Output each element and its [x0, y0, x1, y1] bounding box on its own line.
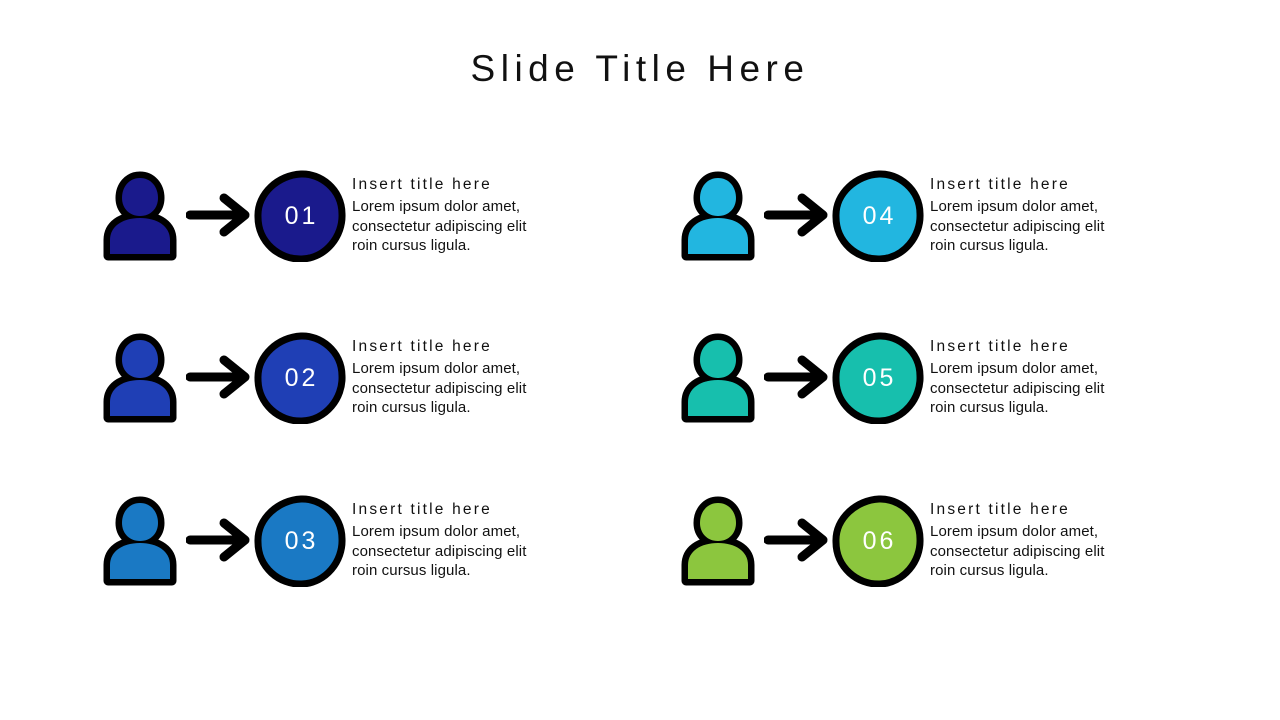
item-title: Insert title here — [930, 336, 1230, 358]
arrow-right-icon — [764, 352, 834, 402]
item-title: Insert title here — [352, 336, 652, 358]
item-body: Lorem ipsum dolor amet, consectetur adip… — [930, 522, 1126, 581]
infographic-item-04[interactable]: 04 Insert title here Lorem ipsum dolor a… — [674, 160, 1234, 270]
item-body: Lorem ipsum dolor amet, consectetur adip… — [930, 197, 1126, 256]
arrow-right-icon — [764, 515, 834, 565]
number-badge: 01 — [254, 170, 346, 262]
item-body: Lorem ipsum dolor amet, consectetur adip… — [352, 197, 548, 256]
person-icon — [96, 493, 184, 589]
person-icon — [674, 493, 762, 589]
number-label: 01 — [254, 170, 346, 262]
person-icon — [674, 168, 762, 264]
number-badge: 02 — [254, 332, 346, 424]
arrow-right-icon — [186, 190, 256, 240]
item-title: Insert title here — [930, 499, 1230, 521]
item-text-block: Insert title here Lorem ipsum dolor amet… — [930, 336, 1230, 418]
item-text-block: Insert title here Lorem ipsum dolor amet… — [930, 174, 1230, 256]
number-label: 02 — [254, 332, 346, 424]
item-text-block: Insert title here Lorem ipsum dolor amet… — [352, 174, 652, 256]
slide-canvas: Slide Title Here — [0, 0, 1280, 720]
number-label: 03 — [254, 495, 346, 587]
item-text-block: Insert title here Lorem ipsum dolor amet… — [930, 499, 1230, 581]
item-body: Lorem ipsum dolor amet, consectetur adip… — [352, 522, 548, 581]
arrow-right-icon — [186, 515, 256, 565]
person-icon — [96, 168, 184, 264]
number-label: 05 — [832, 332, 924, 424]
number-label: 06 — [832, 495, 924, 587]
number-badge: 04 — [832, 170, 924, 262]
arrow-right-icon — [186, 352, 256, 402]
person-icon — [674, 330, 762, 426]
number-badge: 06 — [832, 495, 924, 587]
item-title: Insert title here — [352, 174, 652, 196]
infographic-item-02[interactable]: 02 Insert title here Lorem ipsum dolor a… — [96, 322, 656, 432]
number-label: 04 — [832, 170, 924, 262]
item-body: Lorem ipsum dolor amet, consectetur adip… — [352, 359, 548, 418]
item-text-block: Insert title here Lorem ipsum dolor amet… — [352, 336, 652, 418]
number-badge: 03 — [254, 495, 346, 587]
arrow-right-icon — [764, 190, 834, 240]
infographic-item-05[interactable]: 05 Insert title here Lorem ipsum dolor a… — [674, 322, 1234, 432]
infographic-item-06[interactable]: 06 Insert title here Lorem ipsum dolor a… — [674, 485, 1234, 595]
person-icon — [96, 330, 184, 426]
number-badge: 05 — [832, 332, 924, 424]
item-title: Insert title here — [352, 499, 652, 521]
item-text-block: Insert title here Lorem ipsum dolor amet… — [352, 499, 652, 581]
page-title: Slide Title Here — [0, 45, 1280, 93]
infographic-item-01[interactable]: 01 Insert title here Lorem ipsum dolor a… — [96, 160, 656, 270]
item-title: Insert title here — [930, 174, 1230, 196]
item-body: Lorem ipsum dolor amet, consectetur adip… — [930, 359, 1126, 418]
infographic-item-03[interactable]: 03 Insert title here Lorem ipsum dolor a… — [96, 485, 656, 595]
